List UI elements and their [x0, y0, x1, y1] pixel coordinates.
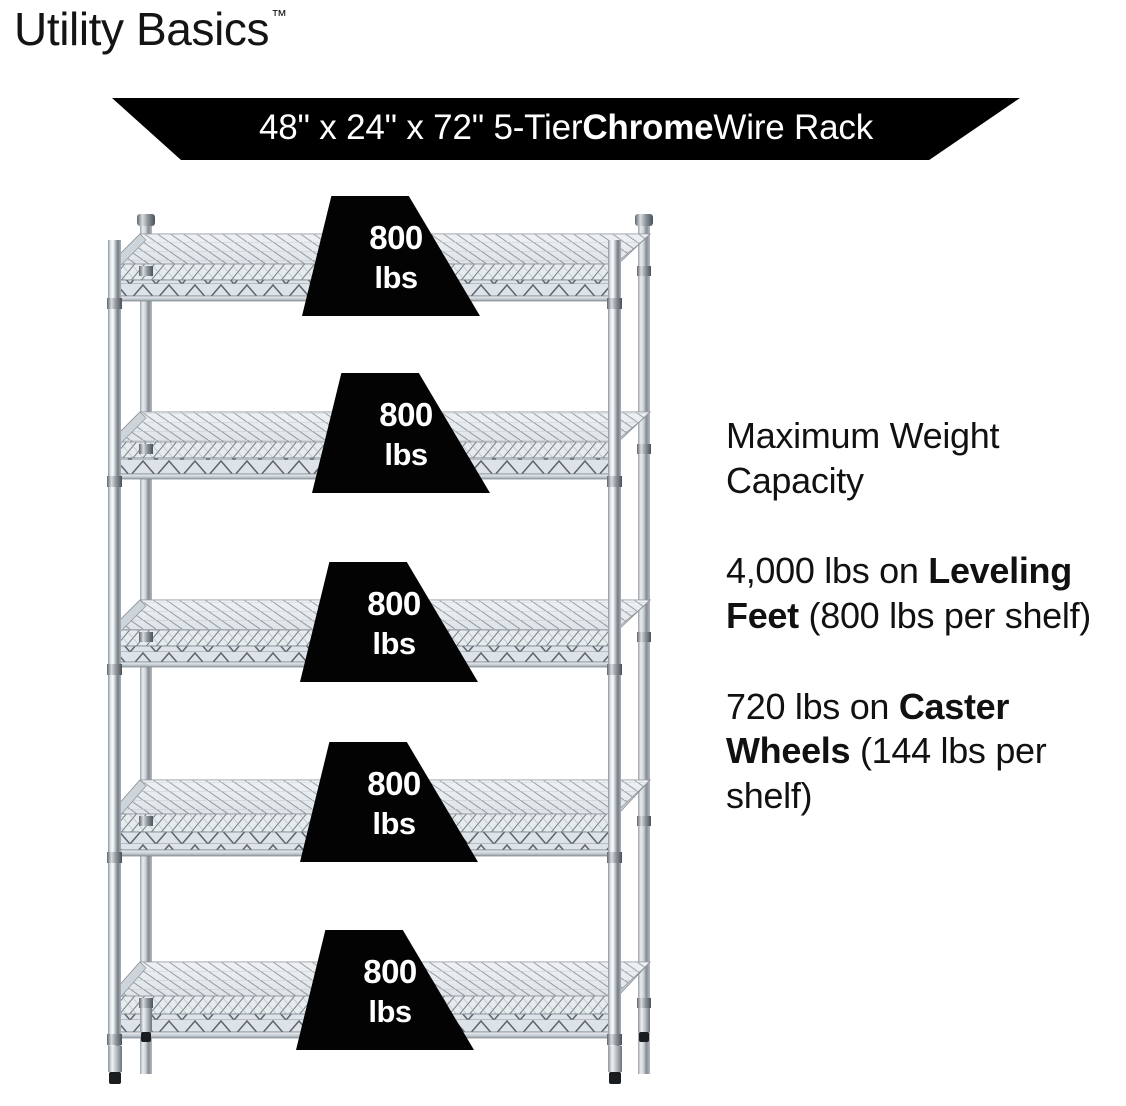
- capacity-badge-shelf-3: 800 lbs: [300, 562, 478, 682]
- badge-unit: lbs: [372, 806, 415, 843]
- caster-wheels-amount: 720 lbs on: [726, 686, 899, 727]
- capacity-badge-shelf-4: 800 lbs: [300, 742, 478, 862]
- banner-title-highlight: Chrome: [582, 108, 713, 148]
- badge-value: 800: [367, 765, 421, 804]
- title-banner: 48" x 24" x 72" 5-Tier Chrome Wire Rack: [112, 98, 1020, 160]
- banner-title-part-2: Wire Rack: [713, 108, 873, 148]
- badge-value: 800: [379, 396, 433, 435]
- capacity-info-block: Maximum Weight Capacity 4,000 lbs on Lev…: [726, 414, 1108, 818]
- badge-value: 800: [369, 219, 423, 258]
- post-front-left: [108, 240, 121, 1070]
- badge-label-group: 800 lbs: [296, 930, 474, 1050]
- badge-label-group: 800 lbs: [312, 373, 490, 493]
- leveling-feet-detail: (800 lbs per shelf): [799, 595, 1091, 636]
- brand-name: Utility Basics: [14, 2, 269, 56]
- capacity-heading: Maximum Weight Capacity: [726, 414, 1108, 503]
- leveling-foot-back-left: [140, 1008, 152, 1032]
- trademark-symbol: ™: [271, 8, 287, 26]
- capacity-badge-shelf-2: 800 lbs: [312, 373, 490, 493]
- banner-title-part-1: 48" x 24" x 72" 5-Tier: [259, 108, 582, 148]
- post-front-right: [608, 240, 621, 1070]
- banner-title-text: 48" x 24" x 72" 5-Tier Chrome Wire Rack: [112, 98, 1020, 160]
- badge-value: 800: [363, 953, 417, 992]
- badge-label-group: 800 lbs: [300, 742, 478, 862]
- badge-unit: lbs: [372, 626, 415, 663]
- post-back-right: [638, 214, 650, 1074]
- badge-label-group: 800 lbs: [300, 562, 478, 682]
- capacity-badge-shelf-5: 800 lbs: [296, 930, 474, 1050]
- brand-logo: Utility Basics ™: [14, 2, 287, 56]
- leveling-feet-amount: 4,000 lbs on: [726, 550, 928, 591]
- capacity-badge-shelf-1: 800 lbs: [302, 196, 480, 316]
- badge-unit: lbs: [384, 437, 427, 474]
- badge-value: 800: [367, 585, 421, 624]
- leveling-foot-front-left: [108, 1046, 122, 1072]
- badge-unit: lbs: [374, 260, 417, 297]
- leveling-feet-capacity: 4,000 lbs on Leveling Feet (800 lbs per …: [726, 549, 1108, 638]
- leveling-foot-back-right: [638, 1008, 650, 1032]
- leveling-foot-front-right: [608, 1046, 622, 1072]
- badge-label-group: 800 lbs: [302, 196, 480, 316]
- caster-wheels-capacity: 720 lbs on Caster Wheels (144 lbs per sh…: [726, 685, 1108, 819]
- badge-unit: lbs: [368, 994, 411, 1031]
